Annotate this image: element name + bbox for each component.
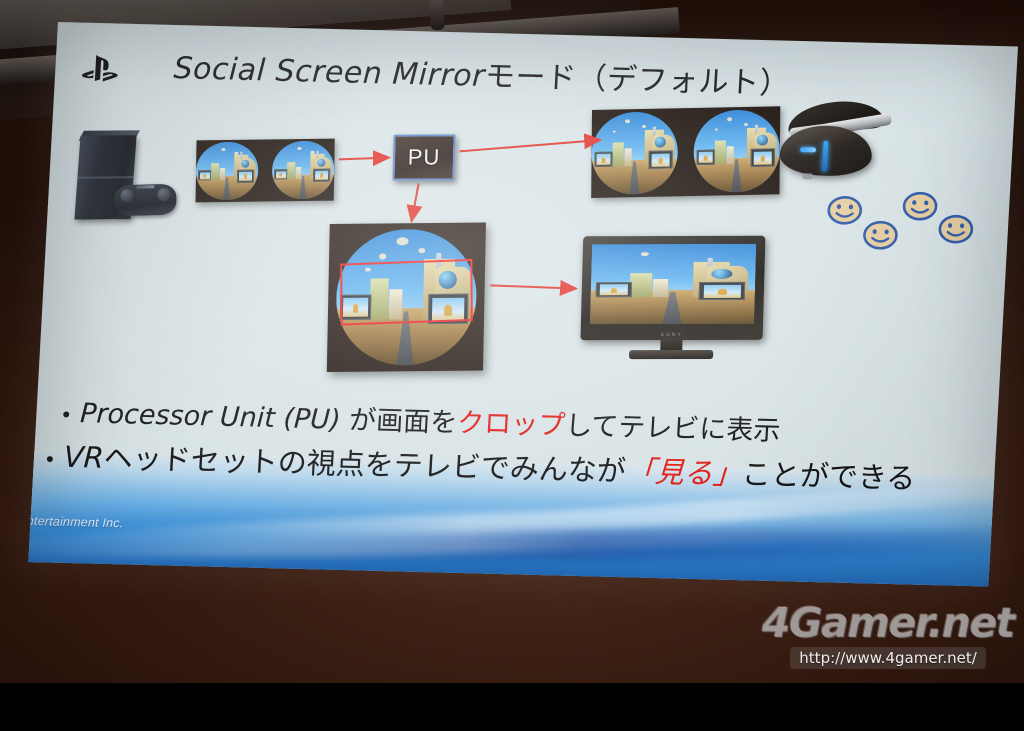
arrow-ps4-to-pu — [339, 156, 389, 160]
slide-title: Social Screen Mirrorモード（デフォルト） — [173, 43, 792, 103]
tv-screen — [590, 244, 756, 324]
circular-vr-view — [327, 223, 486, 373]
stereo-output-headset — [591, 106, 780, 198]
bullet-2-seg-en: VR — [63, 440, 105, 475]
bullet-1-seg-red: クロップ — [456, 408, 566, 442]
psvr-headset-icon — [772, 92, 889, 181]
stereo-output-small — [196, 139, 335, 203]
stereo-eye-right — [272, 141, 335, 200]
headset-foot — [802, 173, 812, 179]
crop-region-rectangle — [340, 259, 473, 326]
bullet-marker: • — [45, 446, 54, 472]
tv-bezel: SONY — [580, 236, 765, 340]
ps4-console — [57, 134, 172, 225]
dualshock-controller — [114, 184, 176, 217]
stereo-eye-left — [591, 111, 678, 195]
vr-scene — [591, 111, 678, 195]
television: SONY — [580, 236, 766, 362]
vr-scene — [272, 141, 335, 200]
headset-led-left — [800, 147, 816, 152]
smiley-face-icon — [936, 213, 976, 246]
stereo-eye-left — [196, 142, 259, 201]
tv-stand-base — [629, 350, 713, 359]
processor-unit-box: PU — [392, 134, 455, 180]
slide-title-japanese: モード（デフォルト） — [484, 59, 791, 102]
bullet-marker: • — [62, 402, 71, 428]
watermark-logo: 4Gamer.net — [762, 603, 1014, 644]
bullet-1-seg-jp2: してテレビに表示 — [564, 410, 781, 446]
bullet-1-seg-jp: が画面を — [348, 405, 458, 439]
playstation-logo — [77, 51, 125, 86]
arrow-crop-to-tv — [490, 285, 576, 288]
slide-title-english: Social Screen Mirror — [173, 51, 486, 94]
bullet-2-seg-red: 「見る」 — [625, 454, 743, 491]
vr-scene — [693, 109, 780, 193]
bullet-2-seg-jp2: ことができる — [741, 457, 916, 495]
stereo-eye-right — [693, 109, 780, 193]
smiley-face-icon — [900, 190, 940, 223]
processor-unit-label: PU — [407, 144, 440, 170]
vr-scene — [196, 142, 259, 201]
headset-led-center — [822, 141, 829, 172]
cropped-social-screen — [590, 244, 756, 324]
smiley-face-icon — [825, 194, 865, 227]
controller-lightbar — [136, 185, 154, 188]
bullet-1-seg-en: Processor Unit (PU) — [79, 398, 350, 436]
smiley-face-icon — [861, 219, 901, 252]
arrow-pu-to-circle — [412, 183, 419, 221]
watermark: 4Gamer.net http://www.4gamer.net/ — [762, 603, 1014, 669]
watermark-url: http://www.4gamer.net/ — [790, 647, 985, 669]
presentation-slide: Social Screen Mirrorモード（デフォルト） — [28, 22, 1018, 586]
arrow-pu-to-headset — [459, 136, 600, 155]
copyright-text: mputer Entertainment Inc. — [28, 513, 123, 531]
light-fixture-icon — [429, 0, 445, 30]
